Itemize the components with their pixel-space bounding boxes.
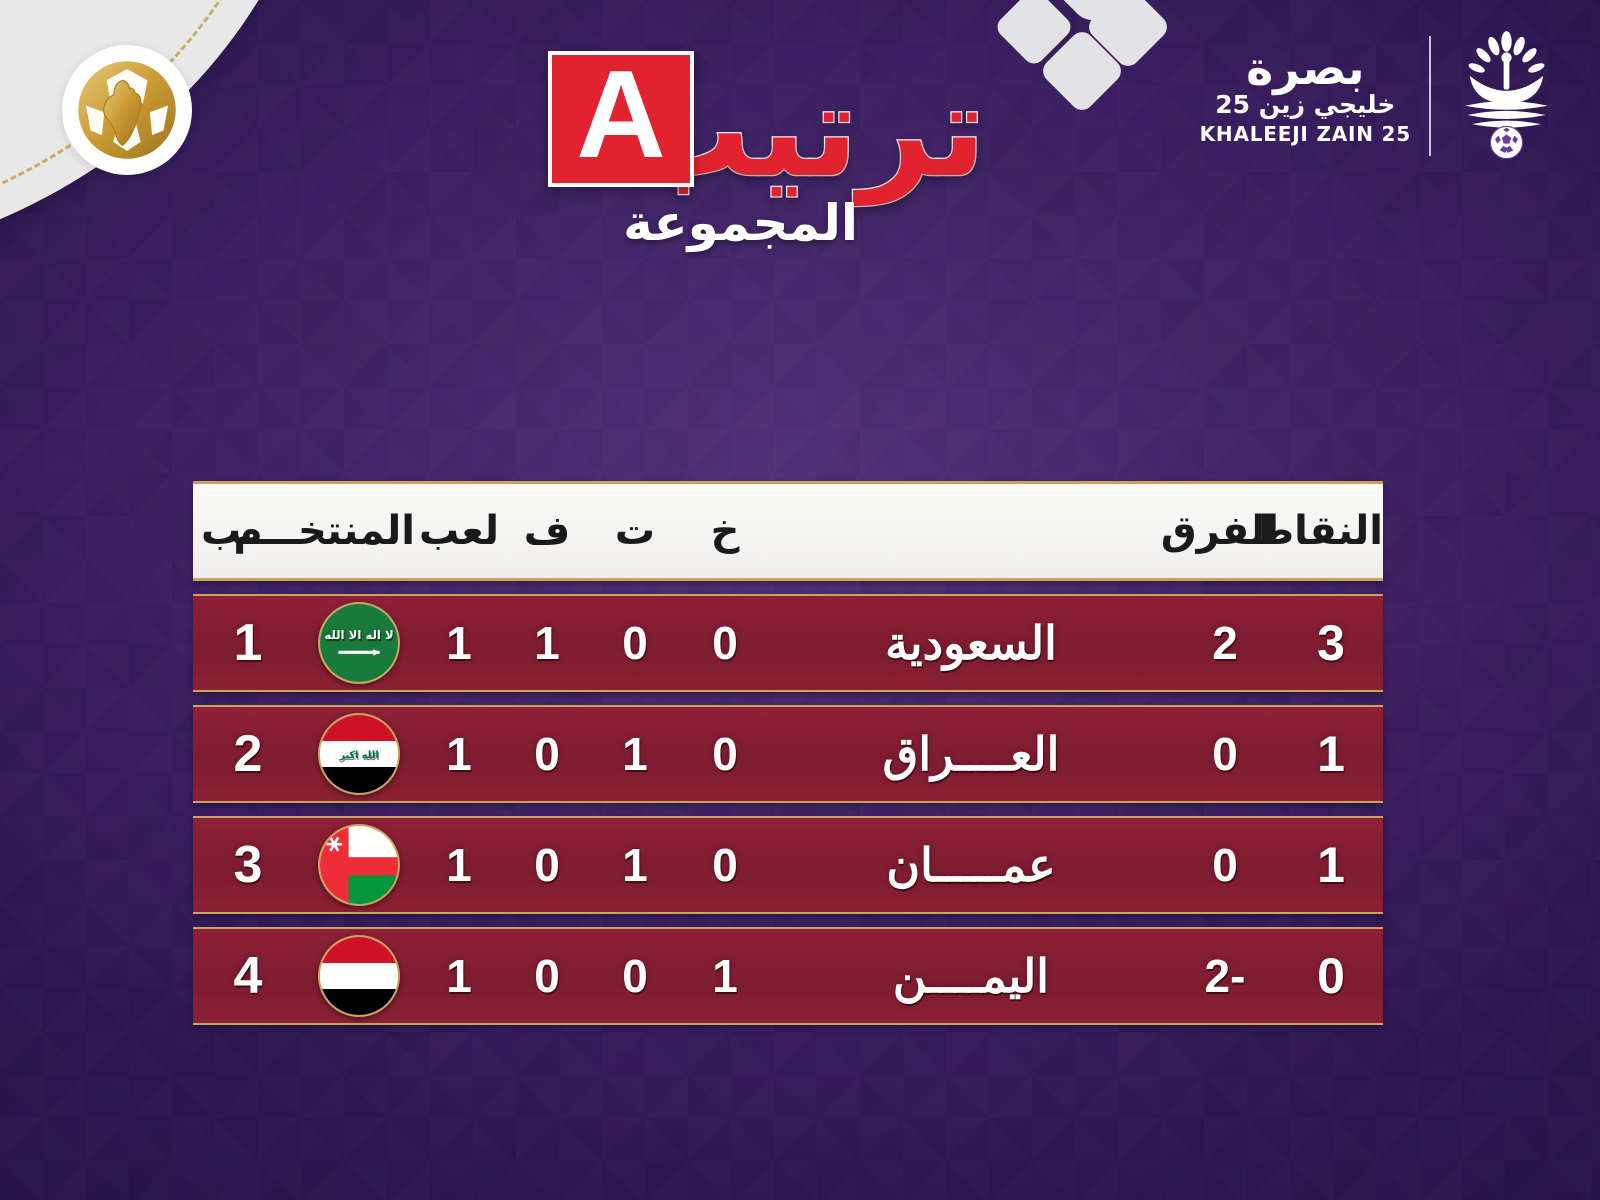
table-row[interactable]: 3 2 السعودية 0 0 1 1 لا اله الا الله 1: [193, 594, 1383, 692]
svg-text:لا اله الا الله: لا اله الا الله: [324, 628, 393, 642]
cell-drawn: 0: [591, 949, 679, 1003]
cell-lost: 0: [679, 838, 771, 892]
column-header-played: لعب: [415, 508, 503, 554]
cell-played: 1: [415, 616, 503, 670]
column-header-rank: م: [193, 508, 303, 554]
cell-won: 0: [503, 727, 591, 781]
group-letter-badge: A: [548, 51, 694, 187]
table-row[interactable]: 1 0 العــــراق 0 1 0 1 الله اكبر 2: [193, 705, 1383, 803]
cell-team-name: عمـــــان: [771, 838, 1171, 892]
cell-flag: لا اله الا الله: [303, 602, 415, 684]
table-row[interactable]: 1 0 عمـــــان 0 1 0 1: [193, 816, 1383, 914]
cell-lost: 0: [679, 727, 771, 781]
cell-flag: الله اكبر: [303, 713, 415, 795]
oman-flag-icon: [318, 824, 400, 906]
cell-team-name: العــــراق: [771, 727, 1171, 781]
column-header-won: ف: [503, 508, 591, 554]
basra-label: بصرة: [1200, 46, 1411, 90]
cell-points: 3: [1279, 614, 1383, 672]
page-subtitle: المجموعة: [623, 198, 858, 248]
cell-played: 1: [415, 838, 503, 892]
cell-rank: 1: [193, 613, 303, 673]
cell-lost: 0: [679, 616, 771, 670]
saudi-arabia-flag-icon: لا اله الا الله: [318, 602, 400, 684]
cell-goal-difference: -2: [1171, 949, 1279, 1003]
cell-goal-difference: 2: [1171, 616, 1279, 670]
title-block: ترتيب A المجموعة: [380, 16, 1000, 266]
diamond-motif-decoration: [985, 0, 1215, 126]
cell-lost: 1: [679, 949, 771, 1003]
khaleeji-zain-wordmark: بصرة خليجي زين 25 KHALEEJI ZAIN 25: [1186, 46, 1411, 146]
yemen-flag-icon: [318, 935, 400, 1017]
cell-points: 1: [1279, 836, 1383, 894]
khaleeji-latin-label: KHALEEJI ZAIN 25: [1200, 122, 1411, 146]
column-header-points: النقاط: [1279, 508, 1383, 554]
cell-rank: 2: [193, 724, 303, 784]
column-header-lost: خ: [679, 508, 771, 554]
cell-team-name: اليمــــن: [771, 949, 1171, 1003]
gulf-cup-football-map-badge-icon: [62, 45, 192, 175]
cell-won: 0: [503, 838, 591, 892]
tournament-logo-group: بصرة خليجي زين 25 KHALEEJI ZAIN 25: [1186, 30, 1564, 162]
table-header-row: النقاط الفرق خ ت ف لعب المنتخــــب م: [193, 481, 1383, 581]
cell-points: 0: [1279, 947, 1383, 1005]
cell-played: 1: [415, 949, 503, 1003]
cell-goal-difference: 0: [1171, 838, 1279, 892]
cell-drawn: 1: [591, 727, 679, 781]
cell-goal-difference: 0: [1171, 727, 1279, 781]
cell-rank: 4: [193, 946, 303, 1006]
column-header-drawn: ت: [591, 508, 679, 554]
standings-graphic: بصرة خليجي زين 25 KHALEEJI ZAIN 25: [0, 0, 1600, 1200]
logo-divider: [1429, 36, 1431, 156]
cell-team-name: السعودية: [771, 616, 1171, 670]
column-header-gd: الفرق: [1171, 508, 1279, 554]
khaleeji-arabic-label: خليجي زين 25: [1200, 91, 1411, 120]
cell-won: 1: [503, 616, 591, 670]
table-row[interactable]: 0 -2 اليمــــن 1 0 0 1 4: [193, 927, 1383, 1025]
cell-drawn: 1: [591, 838, 679, 892]
cell-flag: [303, 824, 415, 906]
column-header-team: المنتخــــب: [303, 508, 415, 554]
cell-rank: 3: [193, 835, 303, 895]
cell-played: 1: [415, 727, 503, 781]
cell-won: 0: [503, 949, 591, 1003]
standings-table: النقاط الفرق خ ت ف لعب المنتخــــب م 3 2…: [193, 481, 1383, 1025]
iraq-flag-icon: الله اكبر: [318, 713, 400, 795]
cell-drawn: 0: [591, 616, 679, 670]
saudi-football-federation-emblem-icon: [1449, 30, 1564, 162]
cell-points: 1: [1279, 725, 1383, 783]
svg-text:الله اكبر: الله اكبر: [338, 750, 378, 761]
cell-flag: [303, 935, 415, 1017]
